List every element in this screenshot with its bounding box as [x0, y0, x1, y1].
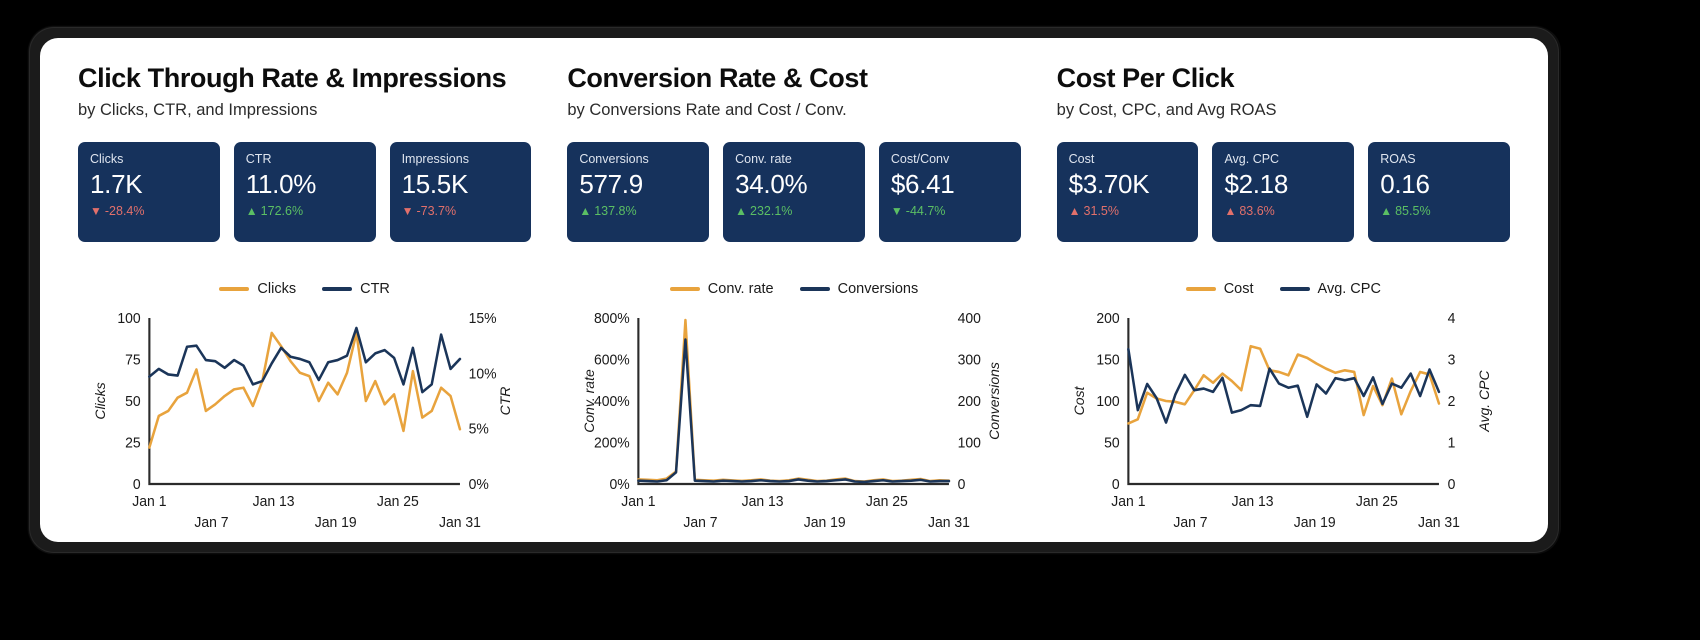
kpi-value: 11.0% [246, 170, 364, 200]
arrow-up-icon: ▲ [735, 205, 747, 217]
y2-axis-tick-label: 100 [958, 435, 981, 451]
legend-swatch-icon [670, 287, 700, 291]
legend-swatch-icon [322, 287, 352, 291]
chart-block: ClicksCTR02550751000%5%10%15%ClicksCTRJa… [78, 276, 531, 534]
kpi-delta-value: 232.1% [750, 204, 792, 218]
kpi-value: $6.41 [891, 170, 1009, 200]
kpi-card-conversions[interactable]: Conversions577.9▲137.8% [567, 142, 709, 242]
kpi-value: 577.9 [579, 170, 697, 200]
y2-axis-tick-label: 10% [469, 366, 497, 382]
x-axis-tick-label: Jan 19 [1293, 515, 1335, 531]
chart-svg: 02550751000%5%10%15%ClicksCTRJan 1Jan 7J… [78, 306, 531, 538]
kpi-card-impressions[interactable]: Impressions15.5K▼-73.7% [390, 142, 532, 242]
arrow-up-icon: ▲ [1069, 205, 1081, 217]
panel-click-through-rate-impressions: Click Through Rate & Impressionsby Click… [60, 64, 549, 534]
legend-label: Conv. rate [708, 281, 774, 297]
panel-container: Click Through Rate & Impressionsby Click… [40, 38, 1548, 542]
plot-area[interactable]: 05010015020001234CostAvg. CPCJan 1Jan 7J… [1057, 306, 1510, 538]
y-axis-tick-label: 150 [1096, 352, 1119, 368]
arrow-up-icon: ▲ [579, 205, 591, 217]
legend-item[interactable]: CTR [322, 281, 390, 297]
legend-label: CTR [360, 281, 390, 297]
kpi-value: $3.70K [1069, 170, 1187, 200]
kpi-delta: ▲83.6% [1224, 204, 1342, 218]
kpi-delta-value: 137.8% [594, 204, 636, 218]
panel-title: Click Through Rate & Impressions [78, 64, 531, 92]
y-axis-tick-label: 0% [610, 477, 631, 493]
panel-subtitle: by Cost, CPC, and Avg ROAS [1057, 101, 1510, 120]
y2-axis-title: CTR [498, 387, 513, 416]
chart-legend: Conv. rateConversions [567, 276, 1020, 302]
panel-subtitle: by Clicks, CTR, and Impressions [78, 101, 531, 120]
y-axis-tick-label: 200 [1096, 311, 1119, 327]
kpi-row: Conversions577.9▲137.8%Conv. rate34.0%▲2… [567, 142, 1020, 242]
kpi-delta-value: -44.7% [906, 204, 946, 218]
kpi-delta: ▼-44.7% [891, 204, 1009, 218]
kpi-label: Conv. rate [735, 153, 853, 167]
y-axis-title: Conv. rate [583, 369, 598, 433]
panel-cost-per-click: Cost Per Clickby Cost, CPC, and Avg ROAS… [1039, 64, 1528, 534]
y2-axis-title: Avg. CPC [1477, 370, 1492, 432]
legend-swatch-icon [1186, 287, 1216, 291]
series-line-conversions [639, 340, 950, 482]
kpi-card-ctr[interactable]: CTR11.0%▲172.6% [234, 142, 376, 242]
kpi-delta-value: 83.6% [1239, 204, 1274, 218]
x-axis-tick-label: Jan 19 [315, 515, 357, 531]
x-axis-tick-label: Jan 13 [742, 494, 784, 510]
kpi-label: Clicks [90, 153, 208, 167]
y-axis-tick-label: 100 [1096, 394, 1119, 410]
y-axis-tick-label: 0 [1112, 477, 1120, 493]
kpi-delta: ▲172.6% [246, 204, 364, 218]
y2-axis-tick-label: 1 [1447, 435, 1455, 451]
y2-axis-tick-label: 4 [1447, 311, 1455, 327]
panel-conversion-rate-cost: Conversion Rate & Costby Conversions Rat… [549, 64, 1038, 534]
y2-axis-tick-label: 3 [1447, 352, 1455, 368]
kpi-delta-value: -73.7% [416, 204, 456, 218]
x-axis-tick-label: Jan 31 [1418, 515, 1460, 531]
kpi-value: 34.0% [735, 170, 853, 200]
legend-item[interactable]: Cost [1186, 281, 1254, 297]
kpi-delta-value: 85.5% [1395, 204, 1430, 218]
kpi-label: Impressions [402, 153, 520, 167]
legend-item[interactable]: Avg. CPC [1280, 281, 1381, 297]
y-axis-tick-label: 200% [594, 435, 630, 451]
y2-axis-tick-label: 2 [1447, 394, 1455, 410]
chart-block: CostAvg. CPC05010015020001234CostAvg. CP… [1057, 276, 1510, 534]
chart-svg: 05010015020001234CostAvg. CPCJan 1Jan 7J… [1057, 306, 1510, 538]
y2-axis-tick-label: 300 [958, 352, 981, 368]
kpi-row: Clicks1.7K▼-28.4%CTR11.0%▲172.6%Impressi… [78, 142, 531, 242]
arrow-up-icon: ▲ [1380, 205, 1392, 217]
legend-item[interactable]: Clicks [219, 281, 296, 297]
kpi-delta-value: 31.5% [1084, 204, 1119, 218]
kpi-card-cost[interactable]: Cost$3.70K▲31.5% [1057, 142, 1199, 242]
chart-block: Conv. rateConversions0%200%400%600%800%0… [567, 276, 1020, 534]
kpi-delta: ▲31.5% [1069, 204, 1187, 218]
y-axis-title: Cost [1072, 385, 1087, 415]
panel-title: Cost Per Click [1057, 64, 1510, 92]
chart-svg: 0%200%400%600%800%0100200300400Conv. rat… [567, 306, 1020, 538]
kpi-delta: ▼-73.7% [402, 204, 520, 218]
legend-label: Conversions [838, 281, 919, 297]
y2-axis-tick-label: 0 [958, 477, 966, 493]
x-axis-tick-label: Jan 7 [194, 515, 228, 531]
kpi-label: Cost [1069, 153, 1187, 167]
kpi-card-roas[interactable]: ROAS0.16▲85.5% [1368, 142, 1510, 242]
legend-item[interactable]: Conv. rate [670, 281, 774, 297]
y-axis-tick-label: 50 [125, 394, 141, 410]
kpi-value: $2.18 [1224, 170, 1342, 200]
kpi-label: Conversions [579, 153, 697, 167]
chart-legend: ClicksCTR [78, 276, 531, 302]
y2-axis-tick-label: 0% [469, 477, 490, 493]
y2-axis-tick-label: 0 [1447, 477, 1455, 493]
y-axis-tick-label: 50 [1104, 435, 1120, 451]
y-axis-tick-label: 25 [125, 435, 141, 451]
y2-axis-tick-label: 400 [958, 311, 981, 327]
kpi-value: 1.7K [90, 170, 208, 200]
x-axis-tick-label: Jan 1 [622, 494, 656, 510]
x-axis-tick-label: Jan 7 [1173, 515, 1207, 531]
kpi-card-cost-conv[interactable]: Cost/Conv$6.41▼-44.7% [879, 142, 1021, 242]
dashboard-root: Click Through Rate & Impressionsby Click… [0, 0, 1700, 640]
plot-area[interactable]: 02550751000%5%10%15%ClicksCTRJan 1Jan 7J… [78, 306, 531, 538]
legend-swatch-icon [1280, 287, 1310, 291]
kpi-delta: ▼-28.4% [90, 204, 208, 218]
x-axis-tick-label: Jan 31 [439, 515, 481, 531]
arrow-down-icon: ▼ [402, 205, 414, 217]
y-axis-tick-label: 0 [133, 477, 141, 493]
y-axis-tick-label: 600% [594, 352, 630, 368]
panel-subtitle: by Conversions Rate and Cost / Conv. [567, 101, 1020, 120]
x-axis-tick-label: Jan 13 [253, 494, 295, 510]
x-axis-tick-label: Jan 1 [132, 494, 166, 510]
x-axis-tick-label: Jan 25 [1356, 494, 1398, 510]
kpi-card-clicks[interactable]: Clicks1.7K▼-28.4% [78, 142, 220, 242]
kpi-row: Cost$3.70K▲31.5%Avg. CPC$2.18▲83.6%ROAS0… [1057, 142, 1510, 242]
legend-item[interactable]: Conversions [800, 281, 919, 297]
panel-title: Conversion Rate & Cost [567, 64, 1020, 92]
x-axis-tick-label: Jan 31 [928, 515, 970, 531]
kpi-label: ROAS [1380, 153, 1498, 167]
x-axis-tick-label: Jan 25 [866, 494, 908, 510]
kpi-value: 15.5K [402, 170, 520, 200]
series-line-avg-cpc [1128, 349, 1439, 422]
kpi-label: Avg. CPC [1224, 153, 1342, 167]
y-axis-tick-label: 400% [594, 394, 630, 410]
y-axis-tick-label: 100 [117, 311, 140, 327]
kpi-delta-value: -28.4% [105, 204, 145, 218]
kpi-card-avg-cpc[interactable]: Avg. CPC$2.18▲83.6% [1212, 142, 1354, 242]
legend-label: Cost [1224, 281, 1254, 297]
kpi-delta: ▲137.8% [579, 204, 697, 218]
y2-axis-tick-label: 15% [469, 311, 497, 327]
series-line-ctr [149, 328, 460, 392]
x-axis-tick-label: Jan 1 [1111, 494, 1145, 510]
plot-area[interactable]: 0%200%400%600%800%0100200300400Conv. rat… [567, 306, 1020, 538]
dashboard-card: Click Through Rate & Impressionsby Click… [40, 38, 1548, 542]
x-axis-tick-label: Jan 7 [684, 515, 718, 531]
x-axis-tick-label: Jan 25 [377, 494, 419, 510]
legend-label: Avg. CPC [1318, 281, 1381, 297]
legend-swatch-icon [219, 287, 249, 291]
y2-axis-title: Conversions [988, 362, 1003, 440]
legend-label: Clicks [257, 281, 296, 297]
kpi-delta: ▲85.5% [1380, 204, 1498, 218]
arrow-up-icon: ▲ [246, 205, 258, 217]
arrow-down-icon: ▼ [90, 205, 102, 217]
x-axis-tick-label: Jan 19 [804, 515, 846, 531]
kpi-delta: ▲232.1% [735, 204, 853, 218]
kpi-label: Cost/Conv [891, 153, 1009, 167]
kpi-card-conv-rate[interactable]: Conv. rate34.0%▲232.1% [723, 142, 865, 242]
y2-axis-tick-label: 5% [469, 421, 490, 437]
kpi-value: 0.16 [1380, 170, 1498, 200]
x-axis-tick-label: Jan 13 [1231, 494, 1273, 510]
y-axis-tick-label: 800% [594, 311, 630, 327]
axis-lines [149, 318, 460, 484]
y-axis-tick-label: 75 [125, 352, 141, 368]
arrow-up-icon: ▲ [1224, 205, 1236, 217]
y2-axis-tick-label: 200 [958, 394, 981, 410]
chart-legend: CostAvg. CPC [1057, 276, 1510, 302]
arrow-down-icon: ▼ [891, 205, 903, 217]
y-axis-title: Clicks [93, 382, 108, 419]
kpi-label: CTR [246, 153, 364, 167]
kpi-delta-value: 172.6% [261, 204, 303, 218]
legend-swatch-icon [800, 287, 830, 291]
